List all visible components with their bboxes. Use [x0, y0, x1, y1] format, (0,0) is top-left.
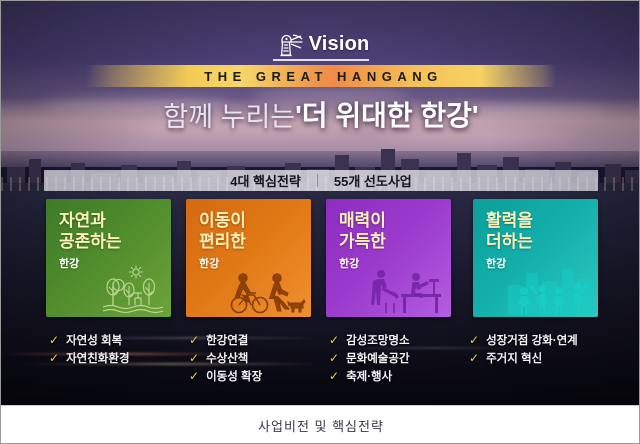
bullet-label: 자연친화환경	[66, 350, 129, 366]
project-count-label: 55개 선도사업	[334, 171, 412, 190]
bullet-label: 감성조망명소	[346, 332, 409, 348]
bullet-label: 이동성 확장	[206, 368, 262, 384]
strategy-card-vitality[interactable]: 활력을 더하는 한강	[473, 199, 598, 317]
bullet-column-nature: ✓ 자연성 회복 ✓ 자연친화환경	[49, 331, 130, 367]
list-item: ✓ 자연성 회복	[49, 331, 130, 349]
cyclist-walker-dog-icon	[227, 269, 307, 315]
check-icon: ✓	[49, 352, 59, 364]
check-icon: ✓	[329, 334, 339, 346]
card-line2: 가득한	[339, 232, 386, 253]
strategy-card-mobility[interactable]: 이동이 편리한 한강	[186, 199, 311, 317]
page-title: 함께 누리는 '더 위대한 한강'	[1, 93, 640, 135]
bullet-label: 문화예술공간	[346, 350, 409, 366]
list-item: ✓ 축제·행사	[329, 367, 410, 385]
check-icon: ✓	[189, 334, 199, 346]
check-icon: ✓	[469, 352, 479, 364]
bullet-column-attraction: ✓ 감성조망명소 ✓ 문화예술공간 ✓ 축제·행사	[329, 331, 410, 385]
check-icon: ✓	[189, 352, 199, 364]
logo-underline	[273, 59, 369, 61]
list-item: ✓ 한강연결	[189, 331, 262, 349]
check-icon: ✓	[189, 370, 199, 382]
card-text-block: 매력이 가득한 한강	[339, 211, 386, 271]
strategy-cards: 자연과 공존하는 한강	[1, 199, 640, 319]
lighthouse-beacon-icon	[273, 29, 307, 59]
card-line2: 공존하는	[59, 232, 122, 253]
check-icon: ✓	[49, 334, 59, 346]
poster-page: Vision THE GREAT HANGANG 함께 누리는 '더 위대한 한…	[0, 0, 640, 444]
tagline-band: THE GREAT HANGANG	[86, 65, 556, 87]
card-text-block: 이동이 편리한 한강	[199, 211, 246, 271]
strategy-card-attraction[interactable]: 매력이 가득한 한강	[326, 199, 451, 317]
vision-logo: Vision	[1, 27, 640, 61]
strategy-card-nature[interactable]: 자연과 공존하는 한강	[46, 199, 171, 317]
bullet-column-vitality: ✓ 성장거점 강화·연계 ✓ 주거지 혁신	[469, 331, 578, 367]
vision-poster: Vision THE GREAT HANGANG 함께 누리는 '더 위대한 한…	[1, 1, 640, 405]
check-icon: ✓	[329, 370, 339, 382]
strategy-bar-divider	[317, 174, 318, 187]
card-line1: 매력이	[339, 211, 386, 232]
strategy-count-label: 4대 핵심전략	[230, 171, 301, 190]
bullet-label: 수상산책	[206, 350, 248, 366]
title-strong-part: '더 위대한 한강'	[295, 94, 478, 134]
list-item: ✓ 성장거점 강화·연계	[469, 331, 578, 349]
bullet-column-mobility: ✓ 한강연결 ✓ 수상산책 ✓ 이동성 확장	[189, 331, 262, 385]
list-item: ✓ 이동성 확장	[189, 367, 262, 385]
tagline-text: THE GREAT HANGANG	[199, 69, 442, 84]
list-item: ✓ 수상산책	[189, 349, 262, 367]
list-item: ✓ 주거지 혁신	[469, 349, 578, 367]
check-icon: ✓	[329, 352, 339, 364]
vision-wordmark: Vision	[309, 33, 370, 56]
bullet-label: 주거지 혁신	[486, 350, 542, 366]
trees-fountain-icon	[101, 263, 167, 315]
list-item: ✓ 자연친화환경	[49, 349, 130, 367]
card-line1: 이동이	[199, 211, 246, 232]
figure-caption: 사업비전 및 핵심전략	[1, 405, 640, 444]
bullet-label: 축제·행사	[346, 368, 392, 384]
list-item: ✓ 감성조망명소	[329, 331, 410, 349]
card-line2: 편리한	[199, 232, 246, 253]
check-icon: ✓	[469, 334, 479, 346]
card-line1: 활력을	[486, 211, 533, 232]
list-item: ✓ 문화예술공간	[329, 349, 410, 367]
musician-stage-icon	[363, 267, 447, 315]
title-plain-part: 함께 누리는	[163, 95, 295, 134]
bullet-label: 자연성 회복	[66, 332, 122, 348]
caption-text: 사업비전 및 핵심전략	[258, 416, 384, 435]
people-skyline-icon	[502, 259, 594, 315]
strategy-bar: 4대 핵심전략 55개 선도사업	[44, 170, 598, 191]
bullet-lists: ✓ 자연성 회복 ✓ 자연친화환경 ✓ 한강연결 ✓ 수상산책 ✓	[1, 331, 640, 391]
card-line2: 더하는	[486, 232, 533, 253]
card-line1: 자연과	[59, 211, 122, 232]
bullet-label: 성장거점 강화·연계	[486, 332, 578, 348]
bullet-label: 한강연결	[206, 332, 248, 348]
